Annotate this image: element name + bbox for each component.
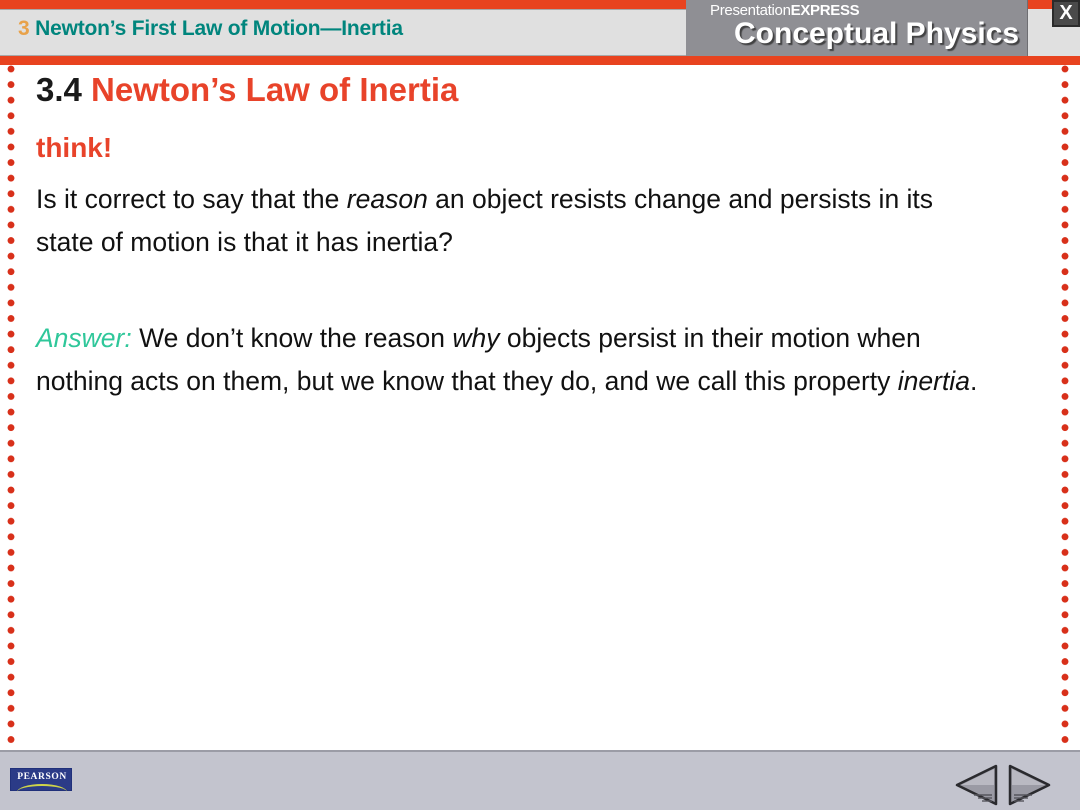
previous-slide-button[interactable]: [954, 764, 1000, 806]
slide-content: 3.4 Newton’s Law of Inertia think! Is it…: [36, 72, 1026, 403]
answer-part-1: We don’t know the reason: [132, 323, 453, 353]
page-title: 3.4 Newton’s Law of Inertia: [36, 72, 1026, 108]
close-icon[interactable]: X: [1052, 0, 1080, 27]
think-subheading: think!: [36, 132, 1026, 164]
chapter-heading: 3 Newton’s First Law of Motion—Inertia: [18, 17, 403, 41]
chapter-number: 3: [18, 17, 29, 40]
header-bottom-red-bar: [0, 56, 1080, 65]
pearson-arc-icon: [17, 784, 67, 792]
answer-label: Answer:: [36, 323, 132, 353]
answer-italic-inertia: inertia: [898, 366, 970, 396]
presentation-express-logo: PresentationEXPRESS Conceptual Physics: [686, 0, 1028, 56]
question-text: Is it correct to say that the reason an …: [36, 178, 991, 264]
answer-text: Answer: We don’t know the reason why obj…: [36, 317, 991, 403]
presentation-slide: 3 Newton’s First Law of Motion—Inertia P…: [0, 0, 1080, 810]
pearson-logo: PEARSON: [10, 768, 72, 791]
chapter-title: Newton’s First Law of Motion—Inertia: [35, 17, 403, 40]
slide-navigation: [954, 760, 1066, 806]
left-dotted-border: [7, 65, 15, 750]
product-title: Conceptual Physics: [734, 17, 1019, 51]
question-italic-reason: reason: [347, 184, 428, 214]
right-dotted-border: [1061, 65, 1069, 750]
section-title: Newton’s Law of Inertia: [91, 71, 458, 108]
section-number: 3.4: [36, 71, 82, 108]
next-slide-button[interactable]: [1006, 764, 1052, 806]
slide-footer: PEARSON: [0, 750, 1080, 810]
question-part-1: Is it correct to say that the: [36, 184, 347, 214]
answer-italic-why: why: [452, 323, 499, 353]
pearson-wordmark: PEARSON: [11, 772, 73, 782]
answer-part-3: .: [970, 366, 977, 396]
